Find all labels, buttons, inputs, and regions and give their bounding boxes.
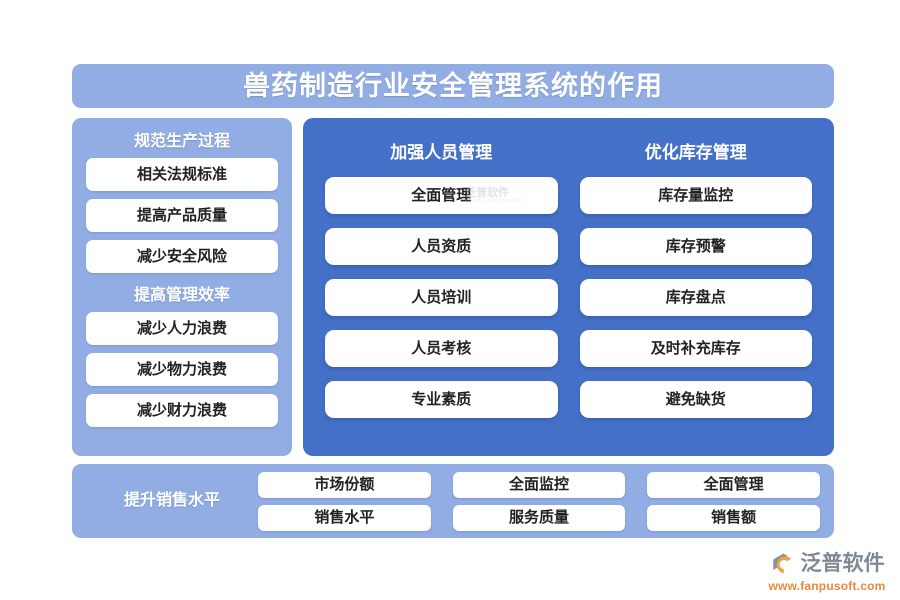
bottom-chip-1-0[interactable]: 全面监控 <box>453 472 626 498</box>
center-chip-0-3[interactable]: 人员考核 <box>325 330 558 367</box>
left-chip-1-1[interactable]: 减少物力浪费 <box>86 353 278 386</box>
brand-name: 泛普软件 <box>801 553 885 574</box>
center-chip-1-4[interactable]: 避免缺货 <box>580 381 813 418</box>
center-chip-label: 库存量监控 <box>658 188 733 203</box>
left-chip-label: 减少物力浪费 <box>137 362 227 377</box>
fanpu-swoosh-logo-icon <box>770 551 796 577</box>
bottom-chip-2-1[interactable]: 销售额 <box>647 505 820 531</box>
page-title-bar: 兽药制造行业安全管理系统的作用 <box>72 64 834 108</box>
center-chip-1-0[interactable]: 库存量监控 <box>580 177 813 214</box>
bottom-chip-1-1[interactable]: 服务质量 <box>453 505 626 531</box>
center-panel: 加强人员管理 全面管理 泛普软件 FANPU SOFTWARE 人员资质 人员培… <box>303 118 834 456</box>
bottom-chip-label: 市场份额 <box>314 477 374 492</box>
left-chip-label: 相关法规标准 <box>137 167 227 182</box>
center-chip-0-0[interactable]: 全面管理 泛普软件 FANPU SOFTWARE <box>325 177 558 214</box>
bottom-chip-2-0[interactable]: 全面管理 <box>647 472 820 498</box>
brand-row: 泛普软件 <box>770 551 885 577</box>
center-chip-label: 避免缺货 <box>666 392 726 407</box>
left-chip-0-1[interactable]: 提高产品质量 <box>86 199 278 232</box>
bottom-chip-label: 销售额 <box>711 510 756 525</box>
watermark-main: 泛普软件 <box>465 187 523 199</box>
infographic-root: 兽药制造行业安全管理系统的作用 规范生产过程 相关法规标准 提高产品质量 减少安… <box>0 0 900 600</box>
left-group-heading-1: 提高管理效率 <box>86 281 278 312</box>
bottom-group-2: 全面管理 销售额 <box>647 472 820 531</box>
center-chip-label: 全面管理 <box>411 188 471 203</box>
left-chip-0-0[interactable]: 相关法规标准 <box>86 158 278 191</box>
bottom-chip-label: 服务质量 <box>509 510 569 525</box>
center-column-heading-1: 优化库存管理 <box>580 132 813 177</box>
bottom-chip-0-0[interactable]: 市场份额 <box>258 472 431 498</box>
watermark-sub: FANPU SOFTWARE <box>465 199 523 204</box>
left-chip-label: 提高产品质量 <box>137 208 227 223</box>
left-chip-label: 减少人力浪费 <box>137 321 227 336</box>
left-chip-1-0[interactable]: 减少人力浪费 <box>86 312 278 345</box>
left-panel: 规范生产过程 相关法规标准 提高产品质量 减少安全风险 提高管理效率 减少人力浪… <box>72 118 292 456</box>
brand-logo: 泛普软件 www.fanpusoft.com <box>760 548 894 594</box>
bottom-chip-0-1[interactable]: 销售水平 <box>258 505 431 531</box>
center-chip-label: 库存盘点 <box>666 290 726 305</box>
center-chip-label: 专业素质 <box>411 392 471 407</box>
bottom-bar-groups: 市场份额 销售水平 全面监控 服务质量 全面管理 销售额 <box>258 472 820 531</box>
bottom-chip-label: 销售水平 <box>314 510 374 525</box>
left-group-heading-0: 规范生产过程 <box>86 127 278 158</box>
center-chip-label: 及时补充库存 <box>651 341 741 356</box>
center-chip-0-1[interactable]: 人员资质 <box>325 228 558 265</box>
center-chip-label: 人员培训 <box>411 290 471 305</box>
left-chip-0-2[interactable]: 减少安全风险 <box>86 240 278 273</box>
bottom-group-0: 市场份额 销售水平 <box>258 472 431 531</box>
center-chip-1-3[interactable]: 及时补充库存 <box>580 330 813 367</box>
bottom-chip-label: 全面监控 <box>509 477 569 492</box>
left-chip-label: 减少财力浪费 <box>137 403 227 418</box>
center-column-personnel: 加强人员管理 全面管理 泛普软件 FANPU SOFTWARE 人员资质 人员培… <box>325 132 558 440</box>
center-column-inventory: 优化库存管理 库存量监控 库存预警 库存盘点 及时补充库存 避免缺货 <box>580 132 813 440</box>
bottom-bar: 提升销售水平 市场份额 销售水平 全面监控 服务质量 <box>72 464 834 538</box>
bottom-bar-label: 提升销售水平 <box>86 493 258 509</box>
brand-url: www.fanpusoft.com <box>769 580 886 592</box>
center-chip-label: 人员资质 <box>411 239 471 254</box>
center-column-heading-0: 加强人员管理 <box>325 132 558 177</box>
fanpu-watermark: 泛普软件 FANPU SOFTWARE <box>465 187 523 203</box>
center-chip-label: 人员考核 <box>411 341 471 356</box>
left-chip-label: 减少安全风险 <box>137 249 227 264</box>
page-title: 兽药制造行业安全管理系统的作用 <box>243 73 663 100</box>
center-chip-1-1[interactable]: 库存预警 <box>580 228 813 265</box>
center-chip-1-2[interactable]: 库存盘点 <box>580 279 813 316</box>
center-chip-label: 库存预警 <box>666 239 726 254</box>
left-chip-1-2[interactable]: 减少财力浪费 <box>86 394 278 427</box>
center-chip-0-2[interactable]: 人员培训 <box>325 279 558 316</box>
center-chip-0-4[interactable]: 专业素质 <box>325 381 558 418</box>
bottom-chip-label: 全面管理 <box>704 477 764 492</box>
bottom-group-1: 全面监控 服务质量 <box>453 472 626 531</box>
